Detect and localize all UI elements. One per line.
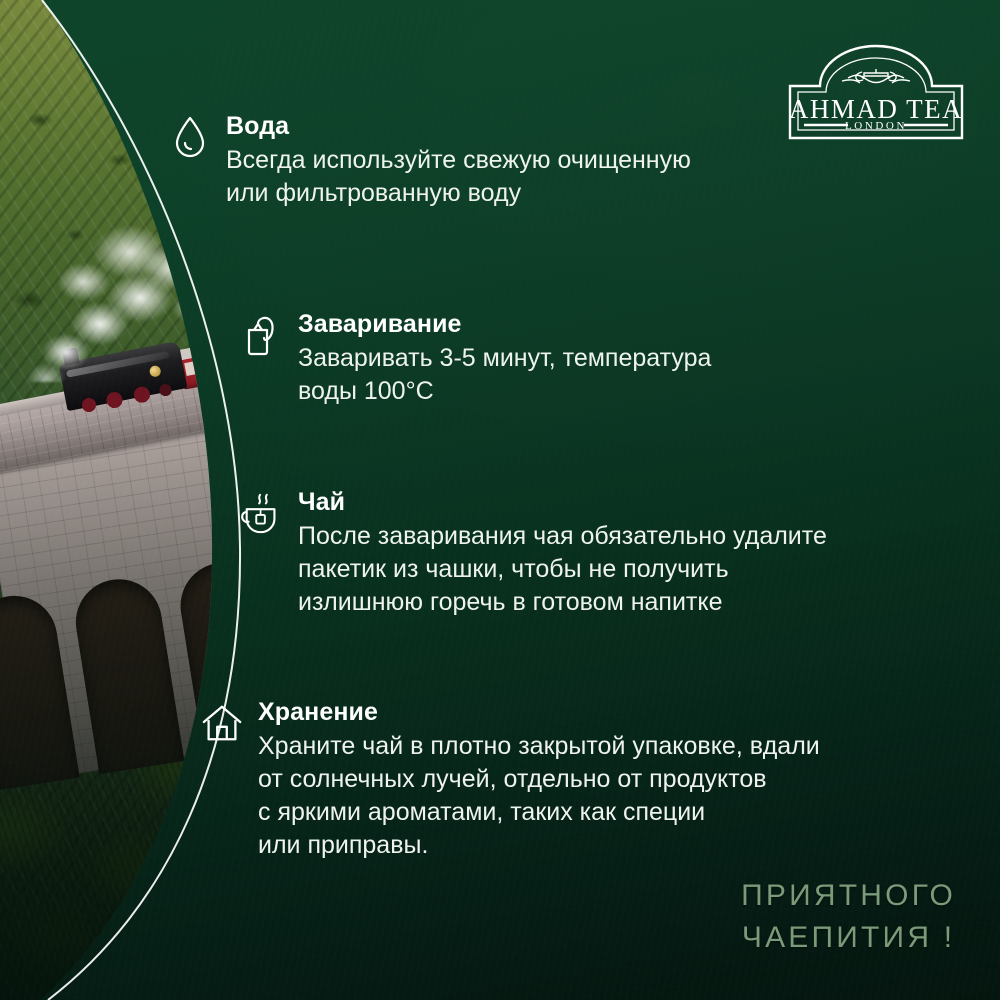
instructions-list: Вода Всегда используйте свежую очищенную… [0,0,1000,1000]
instruction-item-storage: Хранение Храните чай в плотно закрытой у… [200,698,820,863]
tea-cup-icon [240,490,284,536]
water-drop-icon [168,114,212,160]
instruction-body: Заваривать 3-5 минут, температура воды 1… [298,342,711,409]
instruction-title: Чай [298,488,827,518]
tea-brewing-instructions-poster: AHMAD TEA LONDON Вода Всегда используйте… [0,0,1000,1000]
instruction-item-tea: Чай После заваривания чая обязательно уд… [240,488,827,619]
instruction-item-brewing: Заваривание Заваривать 3-5 минут, темпер… [240,310,711,408]
instruction-title: Заваривание [298,310,711,340]
instruction-title: Хранение [258,698,820,728]
house-icon [200,700,244,746]
instruction-body: Храните чай в плотно закрытой упаковке, … [258,730,820,863]
instruction-item-water: Вода Всегда используйте свежую очищенную… [168,112,691,210]
instruction-body: После заваривания чая обязательно удалит… [298,520,827,620]
instruction-body: Всегда используйте свежую очищенную или … [226,144,691,211]
footer-slogan: ПРИЯТНОГО ЧАЕПИТИЯ ! [741,875,956,960]
instruction-title: Вода [226,112,691,142]
tea-bag-icon [240,312,284,358]
